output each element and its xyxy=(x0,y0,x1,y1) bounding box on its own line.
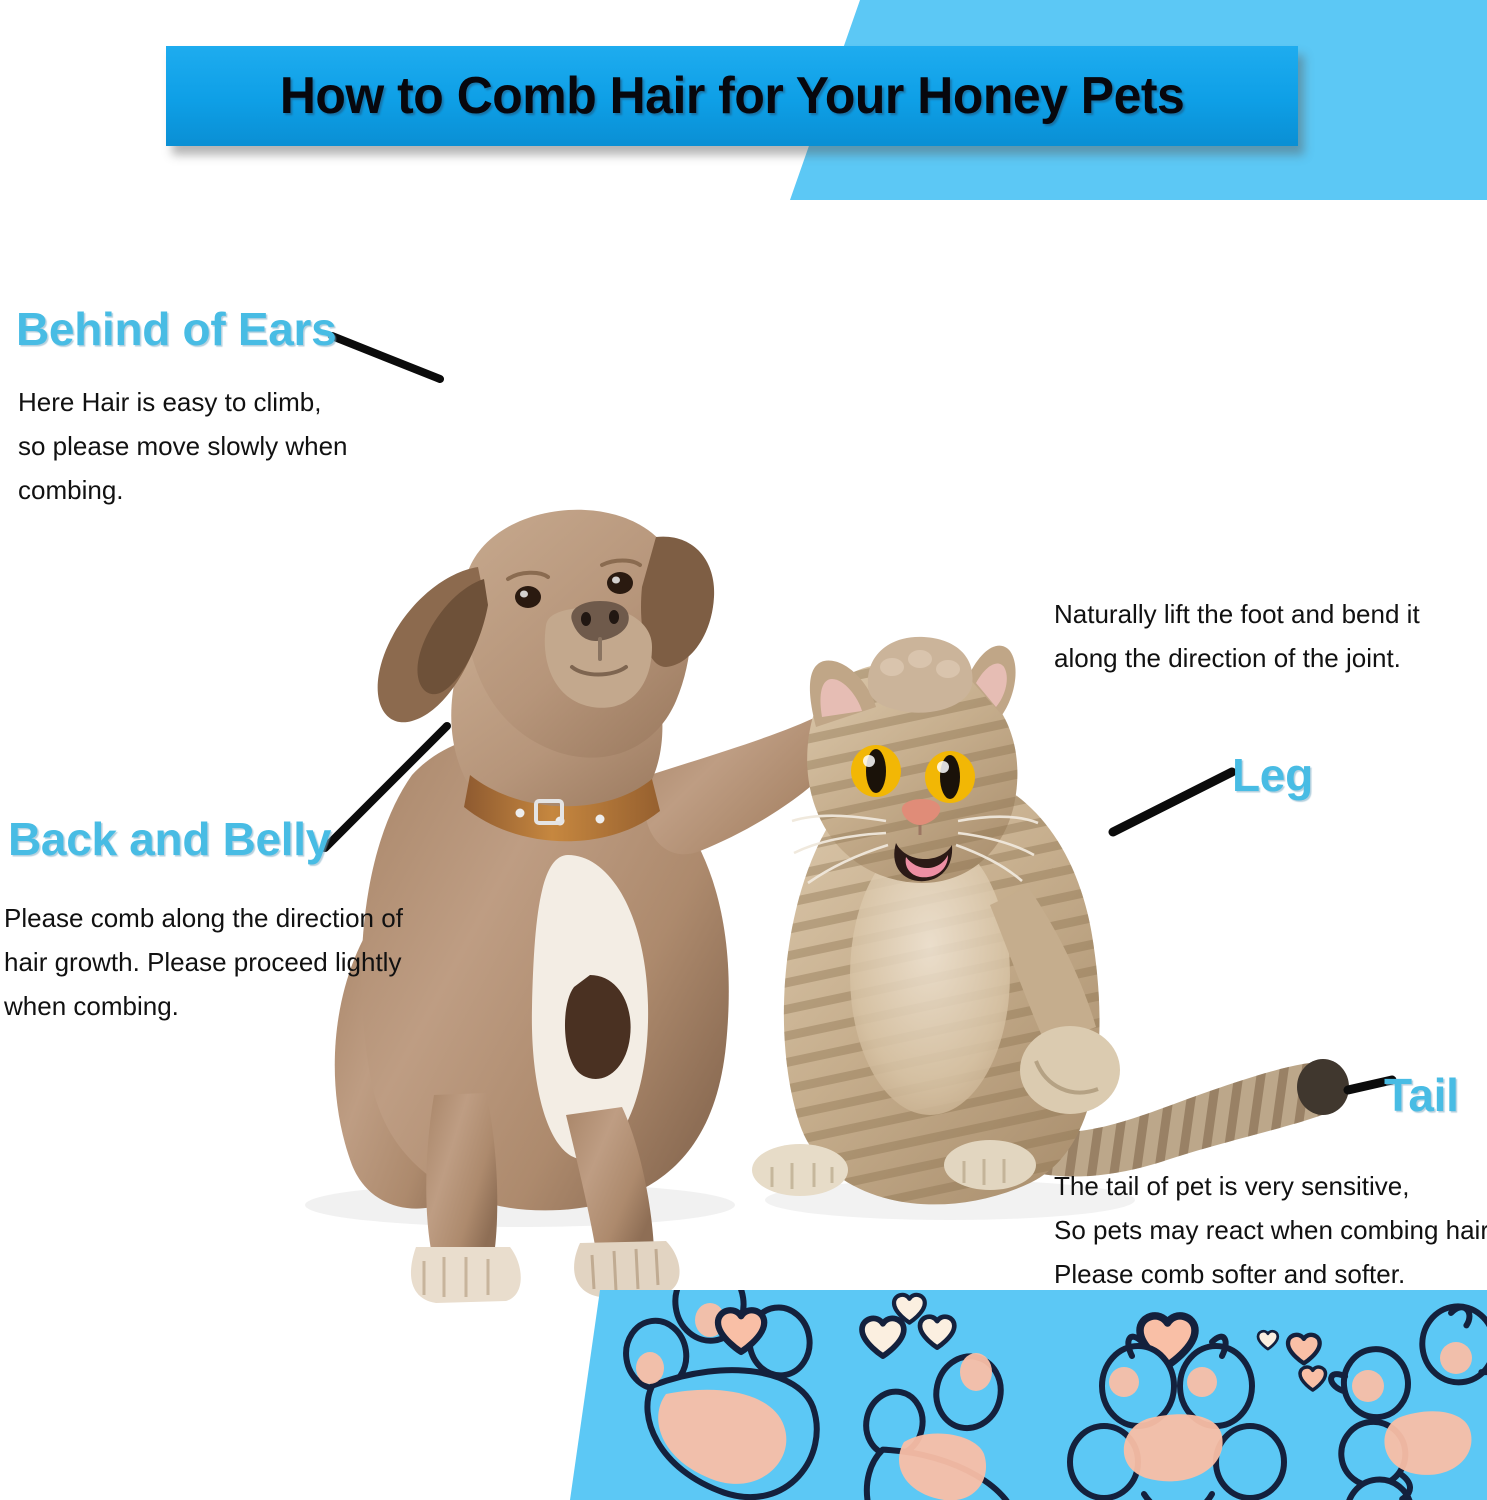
callout-line: Here Hair is easy to climb, xyxy=(18,380,348,424)
callout-line: The tail of pet is very sensitive, xyxy=(1054,1164,1487,1208)
callout-heading-back-and-belly: Back and Belly xyxy=(8,812,331,866)
cat-raised-paw xyxy=(1020,1026,1120,1114)
infographic-page: How to Comb Hair for Your Honey Pets xyxy=(0,0,1487,1500)
callout-line: along the direction of the joint. xyxy=(1054,636,1420,680)
cat-photo xyxy=(752,637,1349,1220)
cat-tail-tip xyxy=(1297,1059,1349,1115)
callout-body-leg: Naturally lift the foot and bend it alon… xyxy=(1054,592,1420,680)
callout-line: So pets may react when combing hair, xyxy=(1054,1208,1487,1252)
callout-body-behind-of-ears: Here Hair is easy to climb, so please mo… xyxy=(18,380,348,513)
callout-line: so please move slowly when xyxy=(18,424,348,468)
title-banner: How to Comb Hair for Your Honey Pets xyxy=(166,46,1298,146)
bottom-decorative-banner xyxy=(0,1290,1487,1500)
callout-line: hair growth. Please proceed lightly xyxy=(4,940,403,984)
callout-line: when combing. xyxy=(4,984,403,1028)
callout-body-tail: The tail of pet is very sensitive, So pe… xyxy=(1054,1164,1487,1297)
callout-body-back-and-belly: Please comb along the direction of hair … xyxy=(4,896,403,1029)
callout-heading-tail: Tail xyxy=(1384,1068,1459,1122)
callout-heading-behind-of-ears: Behind of Ears xyxy=(16,302,336,356)
callout-line: Please comb softer and softer. xyxy=(1054,1252,1487,1296)
callout-line: Naturally lift the foot and bend it xyxy=(1054,592,1420,636)
callout-line: combing. xyxy=(18,468,348,512)
callout-line: Please comb along the direction of xyxy=(4,896,403,940)
page-title: How to Comb Hair for Your Honey Pets xyxy=(280,66,1184,126)
callout-heading-leg: Leg xyxy=(1232,748,1313,802)
